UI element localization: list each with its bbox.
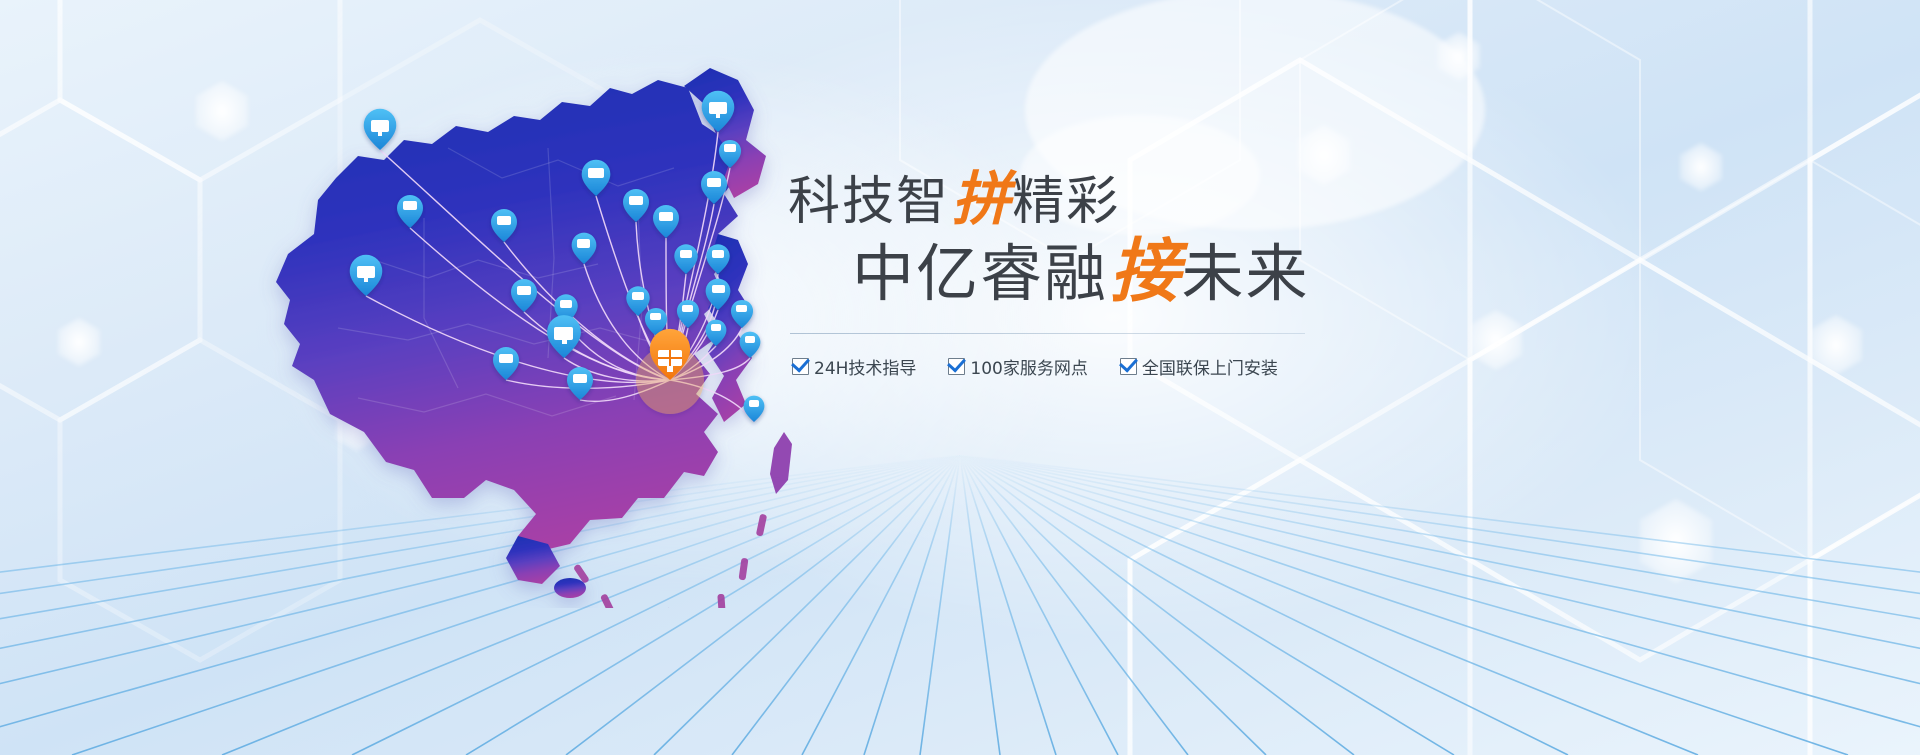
headline-line2-pre: 中亿睿融 (852, 237, 1108, 310)
feature-item-1: 24H技术指导 (792, 354, 916, 379)
checkbox-checked-icon (792, 358, 809, 375)
headline-line-1: 科技智拼精彩 (780, 168, 1340, 233)
feature-label-1: 24H技术指导 (814, 354, 916, 379)
headline-line1-post: 精彩 (1012, 172, 1120, 232)
hero-banner: 科技智拼精彩 中亿睿融接未来 24H技术指导 100家服务网点 全国联保上门安装 (0, 0, 1920, 755)
feature-item-2: 100家服务网点 (948, 354, 1087, 379)
headline-line2-post: 未来 (1181, 237, 1309, 310)
headline-line2-accent: 接 (1108, 231, 1181, 312)
feature-item-3: 全国联保上门安装 (1120, 354, 1278, 379)
headline-line1-accent: 拼 (950, 164, 1012, 233)
headline-line1-pre: 科技智 (788, 172, 950, 232)
headline-line-2: 中亿睿融接未来 (780, 235, 1340, 311)
feature-label-2: 100家服务网点 (970, 354, 1087, 379)
china-map (218, 28, 878, 608)
feature-label-3: 全国联保上门安装 (1142, 354, 1278, 379)
feature-list: 24H技术指导 100家服务网点 全国联保上门安装 (792, 354, 1340, 379)
checkbox-checked-icon (1120, 358, 1137, 375)
headline-divider (790, 333, 1305, 334)
checkbox-checked-icon (948, 358, 965, 375)
headline-block: 科技智拼精彩 中亿睿融接未来 24H技术指导 100家服务网点 全国联保上门安装 (780, 168, 1340, 379)
